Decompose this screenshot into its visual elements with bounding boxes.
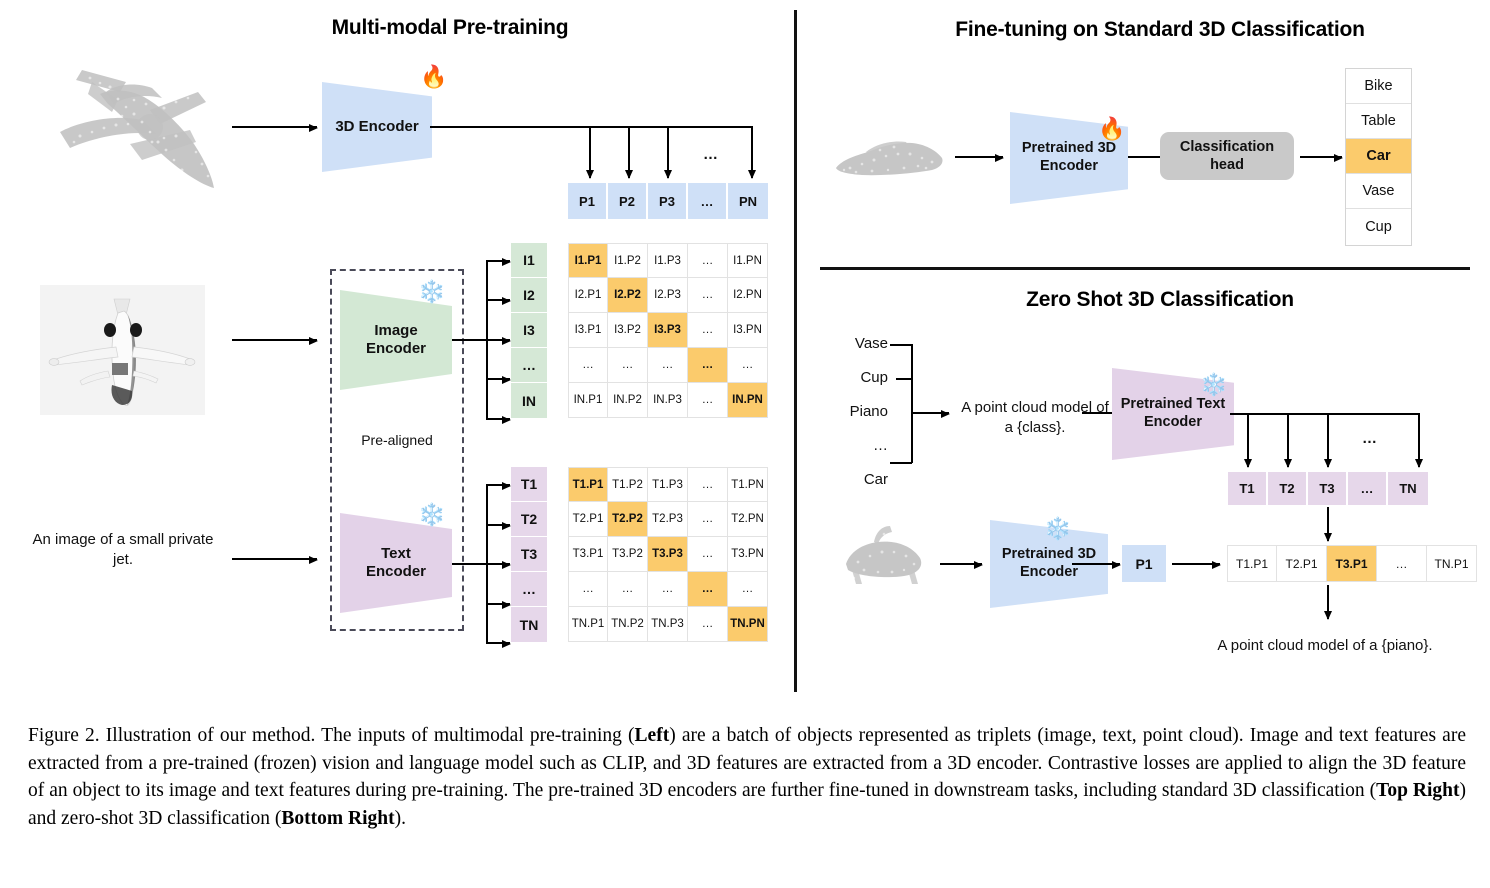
text-similarity-row: T1.P1T1.P2T1.P3…T1.PN [568,467,768,502]
point-feature-cell[interactable]: PN [728,183,768,219]
zs-point-feature[interactable]: P1 [1122,545,1166,582]
arrow-to-zs-t2 [1287,413,1289,467]
image-similarity-cell[interactable]: … [688,278,728,313]
airplane-rendered-image [40,285,205,415]
text-encoder-label-2: Encoder [366,563,426,580]
image-encoder-label-1: Image [374,322,417,339]
zs-text-feature-cell[interactable]: TN [1388,472,1428,505]
image-feature-stack: I1 I2 I3 … IN [511,243,547,418]
arrow-car-to-encoder [955,156,1003,158]
text-similarity-cell[interactable]: T2.P1 [568,502,608,537]
image-similarity-cell[interactable]: I2.PN [728,278,768,313]
text-feature-label[interactable]: TN [511,607,547,642]
image-point-similarity-matrix: I1.P1I1.P2I1.P3…I1.PNI2.P1I2.P2I2.P3…I2.… [568,243,768,418]
image-similarity-cell[interactable]: I2.P3 [648,278,688,313]
zs-bus-ellipsis: … [1362,430,1378,447]
classification-head-label-1: Classification [1180,139,1274,155]
image-feature-stem [452,339,487,341]
image-feature-label[interactable]: I1 [511,243,547,278]
ft-encoder-label-2: Encoder [1040,158,1098,174]
point-feature-cell[interactable]: P1 [568,183,608,219]
image-similarity-cell[interactable]: … [608,348,648,383]
ft-encoder-label-1: Pretrained 3D [1022,140,1116,156]
p-bus-ellipsis: … [703,146,719,163]
text-similarity-row: T3.P1T3.P2T3.P3…T3.PN [568,537,768,572]
point-feature-row: P1 P2 P3 … PN [568,183,768,219]
bracket-tick-car [890,462,912,464]
text-encoder-zs-label-1: Pretrained Text [1121,396,1226,412]
caption-bold-run: Top Right [1376,780,1459,801]
text-similarity-cell[interactable]: … [648,572,688,607]
left-panel-title: Multi-modal Pre-training [260,16,640,40]
class-list-item[interactable]: Vase [1346,174,1411,209]
image-similarity-cell[interactable]: … [688,243,728,278]
text-similarity-cell[interactable]: T2.PN [728,502,768,537]
snowflake-icon: ❄️ [418,281,445,303]
zero-shot-result: A point cloud model of a {piano}. [1175,636,1475,656]
arrow-to-p1 [589,126,591,178]
class-prediction-list: BikeTableCarVaseCup [1345,68,1412,246]
image-similarity-cell[interactable]: I1.P3 [648,243,688,278]
point-feature-cell[interactable]: … [688,183,728,219]
arrow-head-to-classes [1300,156,1342,158]
text-similarity-cell[interactable]: T3.PN [728,537,768,572]
zs-text-feature-cell[interactable]: T3 [1308,472,1348,505]
horizontal-divider [820,267,1470,270]
text-similarity-cell[interactable]: TN.P2 [608,607,648,642]
arrow-3d-encoder-to-p1 [1072,563,1120,565]
image-similarity-cell[interactable]: … [568,348,608,383]
arrow-to-p2 [628,126,630,178]
image-feature-label[interactable]: I3 [511,313,547,348]
arrow-to-t1 [486,484,510,486]
zero-shot-similarity-cell[interactable]: TN.P1 [1427,545,1477,582]
text-similarity-cell[interactable]: TN.PN [728,607,768,642]
arrow-to-p3 [667,126,669,178]
image-similarity-cell[interactable]: … [688,348,728,383]
text-similarity-cell[interactable]: T3.P2 [608,537,648,572]
image-feature-label[interactable]: IN [511,383,547,418]
image-similarity-row: IN.P1IN.P2IN.P3…IN.PN [568,383,768,418]
image-similarity-cell[interactable]: … [688,313,728,348]
image-encoder[interactable]: Image Encoder [340,290,452,390]
caption-bold-run: Bottom Right [281,808,394,829]
class-list-item[interactable]: Cup [1346,209,1411,244]
text-similarity-cell[interactable]: T1.P2 [608,467,648,502]
zs-text-feature-row: T1 T2 T3 … TN [1228,472,1428,505]
arrow-to-i3 [486,339,510,341]
arrow-to-tn [486,642,510,644]
class-list-item[interactable]: Bike [1346,69,1411,104]
zs-text-feature-cell[interactable]: T1 [1228,472,1268,505]
class-candidate[interactable]: Cup [828,368,888,402]
arrow-similarity-to-result [1327,585,1329,619]
class-list-item[interactable]: Car [1346,139,1411,174]
caption-bold-run: Left [635,725,670,746]
three-d-encoder-label: 3D Encoder [335,118,418,136]
class-candidate[interactable]: … [828,436,888,470]
airplane-point-cloud [30,52,245,217]
three-d-feature-bus [430,126,752,128]
arrow-to-zs-t1 [1247,413,1249,467]
image-similarity-cell[interactable]: IN.P2 [608,383,648,418]
class-candidate[interactable]: Vase [828,334,888,368]
image-similarity-cell[interactable]: I3.P3 [648,313,688,348]
vertical-divider [794,10,797,692]
image-encoder-label-2: Encoder [366,340,426,357]
text-similarity-cell[interactable]: … [728,572,768,607]
text-similarity-cell[interactable]: TN.P3 [648,607,688,642]
text-feature-label[interactable]: T1 [511,467,547,502]
image-similarity-cell[interactable]: I1.PN [728,243,768,278]
fire-icon: 🔥 [1098,118,1125,140]
arrow-to-i2 [486,299,510,301]
point-feature-cell[interactable]: P3 [648,183,688,219]
text-feature-label[interactable]: T3 [511,537,547,572]
text-encoder-label-1: Text [381,545,411,562]
image-similarity-cell[interactable]: I1.P1 [568,243,608,278]
classification-head[interactable]: Classification head [1160,132,1294,180]
text-feature-label[interactable]: … [511,572,547,607]
image-similarity-cell[interactable]: IN.PN [728,383,768,418]
text-similarity-cell[interactable]: … [688,467,728,502]
snowflake-icon: ❄️ [1200,374,1227,396]
text-encoder[interactable]: Text Encoder [340,513,452,613]
text-similarity-cell[interactable]: T3.P1 [568,537,608,572]
image-similarity-row: I3.P1I3.P2I3.P3…I3.PN [568,313,768,348]
text-similarity-cell[interactable]: T1.P3 [648,467,688,502]
class-candidate[interactable]: Piano [828,402,888,436]
arrow-to-i1 [486,260,510,262]
image-similarity-cell[interactable]: I3.P1 [568,313,608,348]
arrow-classes-to-prompt [911,412,949,414]
snowflake-icon: ❄️ [418,504,445,526]
caption-run: Figure 2. Illustration of our method. Th… [28,725,635,746]
text-similarity-cell[interactable]: … [568,572,608,607]
arrow-to-zs-tn [1418,413,1420,467]
pre-aligned-label: Pre-aligned [330,432,464,448]
text-similarity-cell[interactable]: … [688,607,728,642]
text-similarity-row: T2.P1T2.P2T2.P3…T2.PN [568,502,768,537]
text-point-similarity-matrix: T1.P1T1.P2T1.P3…T1.PNT2.P1T2.P2T2.P3…T2.… [568,467,768,642]
text-similarity-cell[interactable]: T3.P3 [648,537,688,572]
arrow-piano-to-3d-encoder [940,563,982,565]
arrow-to-in [486,418,510,420]
point-feature-cell[interactable]: P2 [608,183,648,219]
bottom-right-panel-title: Zero Shot 3D Classification [850,288,1470,312]
text-feature-stack: T1 T2 T3 … TN [511,467,547,642]
arrow-pointcloud-to-3d-encoder [232,126,317,128]
text-similarity-cell[interactable]: … [688,537,728,572]
image-feature-label[interactable]: I2 [511,278,547,313]
text-similarity-cell[interactable]: … [688,572,728,607]
image-similarity-cell[interactable]: … [648,348,688,383]
image-similarity-cell[interactable]: I2.P1 [568,278,608,313]
class-candidate[interactable]: Car [828,470,888,504]
caption-run: ). [395,808,406,829]
text-input-caption: An image of a small private jet. [28,530,218,569]
text-similarity-cell[interactable]: T2.P3 [648,502,688,537]
text-feature-label[interactable]: T2 [511,502,547,537]
classification-head-label-2: head [1210,157,1244,173]
text-feature-stem [452,563,487,565]
top-right-panel-title: Fine-tuning on Standard 3D Classificatio… [850,18,1470,42]
image-similarity-cell[interactable]: … [728,348,768,383]
class-list-item[interactable]: Table [1346,104,1411,139]
car-point-cloud [828,130,948,185]
image-similarity-cell[interactable]: IN.P3 [648,383,688,418]
image-similarity-cell[interactable]: I1.P2 [608,243,648,278]
zero-shot-similarity-row: T1.P1T2.P1T3.P1…TN.P1 [1227,545,1477,582]
bracket-tick-cup [896,378,912,380]
image-feature-label[interactable]: … [511,348,547,383]
arrow-to-t2 [486,524,510,526]
text-similarity-row: …………… [568,572,768,607]
figure-caption: Figure 2. Illustration of our method. Th… [28,722,1466,833]
zs-3d-encoder-label-2: Encoder [1020,564,1078,580]
snowflake-icon: ❄️ [1044,518,1071,540]
fire-icon: 🔥 [420,66,447,88]
zs-3d-encoder-label-1: Pretrained 3D [1002,546,1096,562]
zero-shot-similarity-cell[interactable]: … [1377,545,1427,582]
zero-shot-similarity-cell[interactable]: T2.P1 [1277,545,1327,582]
prompt-line-2: a {class}. [1005,419,1066,436]
text-input-value: An image of a small private jet. [33,531,214,568]
image-similarity-cell[interactable]: IN.P1 [568,383,608,418]
text-encoder-zs-label-2: Encoder [1144,414,1202,430]
image-similarity-row: I1.P1I1.P2I1.P3…I1.PN [568,243,768,278]
image-similarity-cell[interactable]: I3.PN [728,313,768,348]
text-similarity-cell[interactable]: T2.P2 [608,502,648,537]
three-d-encoder[interactable]: 3D Encoder [322,82,432,172]
class-candidate-list: Vase Cup Piano … Car [828,334,888,504]
zero-shot-similarity-cell[interactable]: T1.P1 [1227,545,1277,582]
text-similarity-cell[interactable]: … [688,502,728,537]
arrow-text-to-text-encoder [232,558,317,560]
piano-point-cloud [828,520,938,590]
arrow-to-pn [751,126,753,178]
prompt-template: A point cloud model of a {class}. [950,398,1120,438]
image-similarity-row: I2.P1I2.P2I2.P3…I2.PN [568,278,768,313]
arrow-to-zs-t3 [1327,413,1329,467]
arrow-to-t3 [486,563,510,565]
image-similarity-cell[interactable]: I3.P2 [608,313,648,348]
image-similarity-cell[interactable]: … [688,383,728,418]
image-similarity-cell[interactable]: I2.P2 [608,278,648,313]
arrow-p1-to-similarity [1172,563,1220,565]
zs-text-feature-bus [1230,413,1420,415]
bracket-spine [911,344,913,463]
text-similarity-row: TN.P1TN.P2TN.P3…TN.PN [568,607,768,642]
text-similarity-cell[interactable]: … [608,572,648,607]
arrow-to-i4 [486,378,510,380]
arrow-image-to-image-encoder [232,339,317,341]
text-similarity-cell[interactable]: T1.PN [728,467,768,502]
text-similarity-cell[interactable]: T1.P1 [568,467,608,502]
image-similarity-row: …………… [568,348,768,383]
arrow-to-t4 [486,603,510,605]
zs-text-feature-cell[interactable]: T2 [1268,472,1308,505]
zs-text-feature-cell[interactable]: … [1348,472,1388,505]
zero-shot-similarity-cell[interactable]: T3.P1 [1327,545,1377,582]
arrow-t-row-to-similarity [1327,507,1329,541]
text-similarity-cell[interactable]: TN.P1 [568,607,608,642]
bracket-tick-vase [890,344,912,346]
